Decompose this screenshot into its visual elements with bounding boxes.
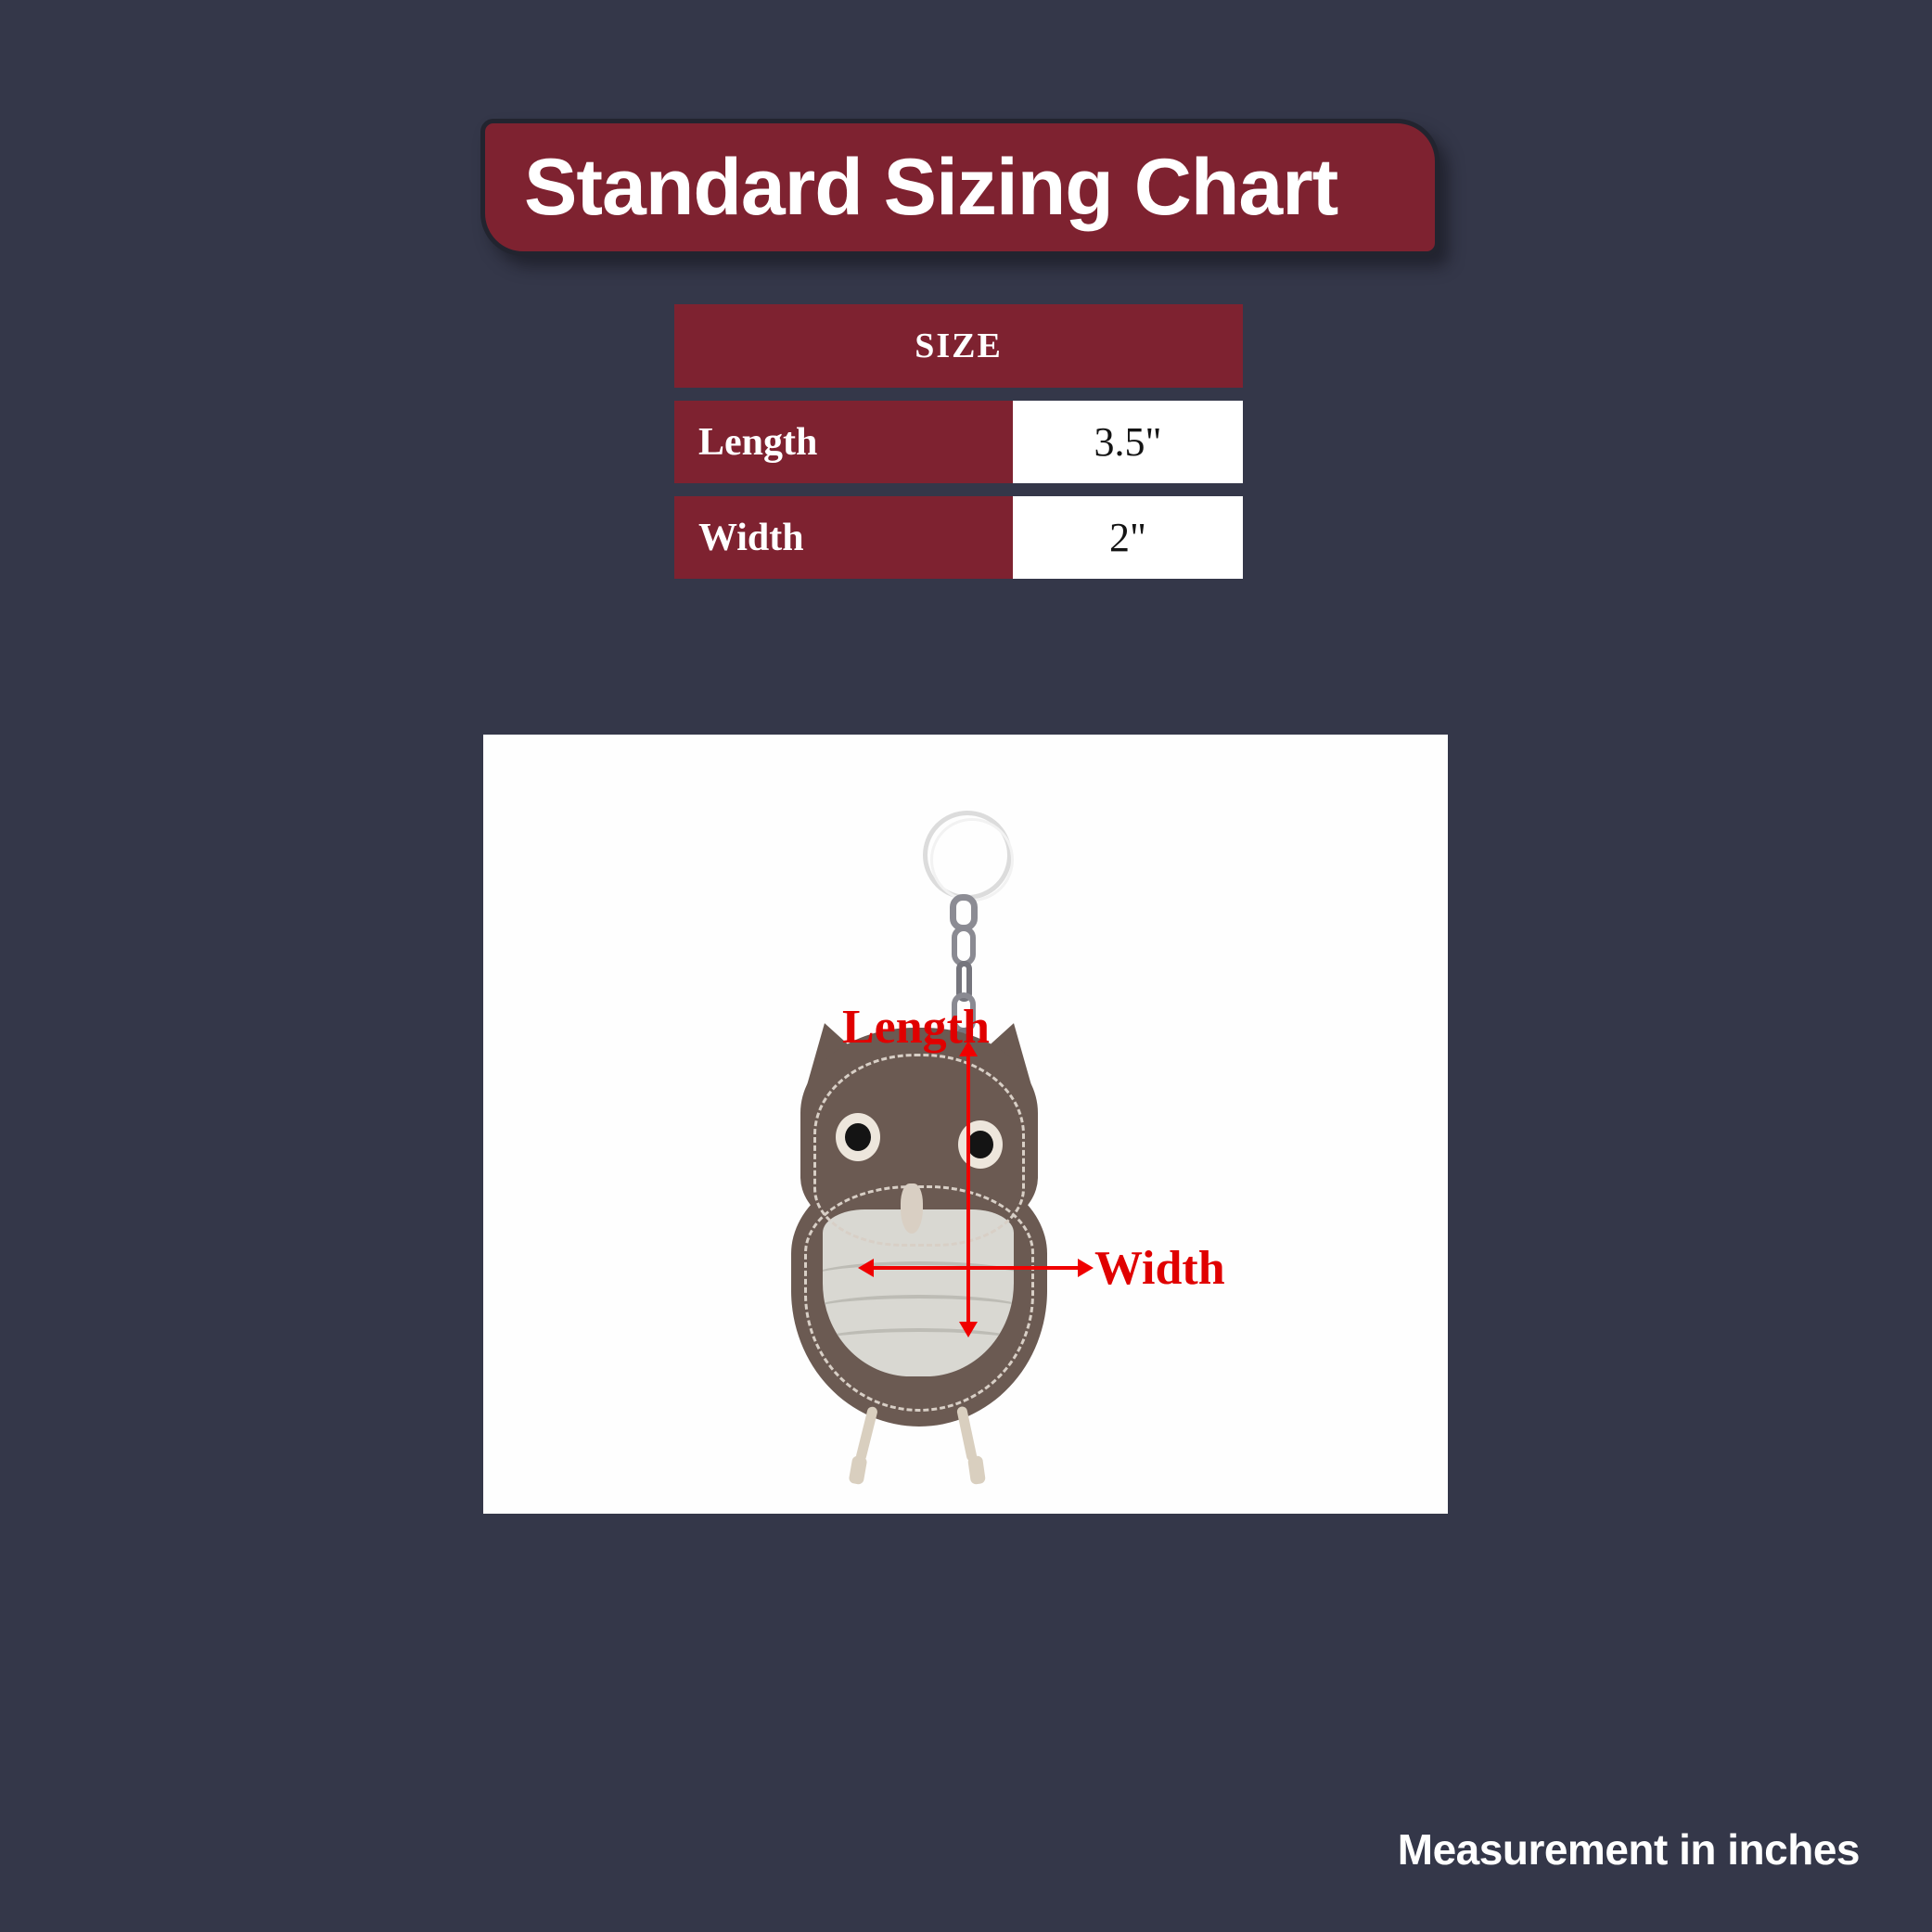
width-label-text: Width bbox=[698, 516, 804, 560]
row-label-width: Width bbox=[674, 496, 1013, 579]
page-title-banner: Standard Sizing Chart bbox=[480, 119, 1439, 256]
arrowhead-down-icon bbox=[959, 1322, 978, 1337]
owl-leg-left bbox=[855, 1406, 878, 1463]
owl-figure bbox=[791, 1028, 1047, 1427]
length-annotation-label: Length bbox=[842, 1000, 990, 1055]
feather-wave bbox=[823, 1328, 1014, 1360]
owl-belly-patch bbox=[823, 1209, 1014, 1376]
owl-eye-right bbox=[958, 1120, 1003, 1169]
row-value-width: 2" bbox=[1013, 496, 1243, 579]
size-table: SIZE Length 3.5" Width 2" bbox=[674, 304, 1243, 579]
width-measure-arrow bbox=[872, 1266, 1080, 1270]
length-label-text: Length bbox=[698, 420, 817, 465]
width-annotation-label: Width bbox=[1094, 1241, 1225, 1296]
feather-wave bbox=[823, 1295, 1014, 1326]
width-value-text: 2" bbox=[1109, 514, 1146, 561]
row-value-length: 3.5" bbox=[1013, 401, 1243, 483]
product-image-panel bbox=[483, 735, 1448, 1514]
table-row: Width 2" bbox=[674, 496, 1243, 579]
size-table-header: SIZE bbox=[674, 304, 1243, 388]
key-split-ring-icon bbox=[923, 811, 1012, 900]
length-measure-arrow bbox=[966, 1055, 970, 1324]
measurement-unit-note: Measurement in inches bbox=[1398, 1824, 1860, 1874]
owl-foot-left bbox=[849, 1455, 868, 1485]
row-label-length: Length bbox=[674, 401, 1013, 483]
owl-eye-left bbox=[836, 1113, 880, 1161]
table-row: Length 3.5" bbox=[674, 401, 1243, 483]
arrowhead-left-icon bbox=[858, 1259, 874, 1277]
owl-keychain-image bbox=[483, 735, 1448, 1514]
arrowhead-right-icon bbox=[1078, 1259, 1094, 1277]
page-title: Standard Sizing Chart bbox=[485, 147, 1337, 227]
length-value-text: 3.5" bbox=[1094, 418, 1162, 466]
owl-leg-right bbox=[956, 1406, 978, 1463]
size-table-header-label: SIZE bbox=[915, 326, 1003, 366]
owl-beak bbox=[901, 1184, 923, 1234]
owl-foot-right bbox=[967, 1455, 986, 1485]
